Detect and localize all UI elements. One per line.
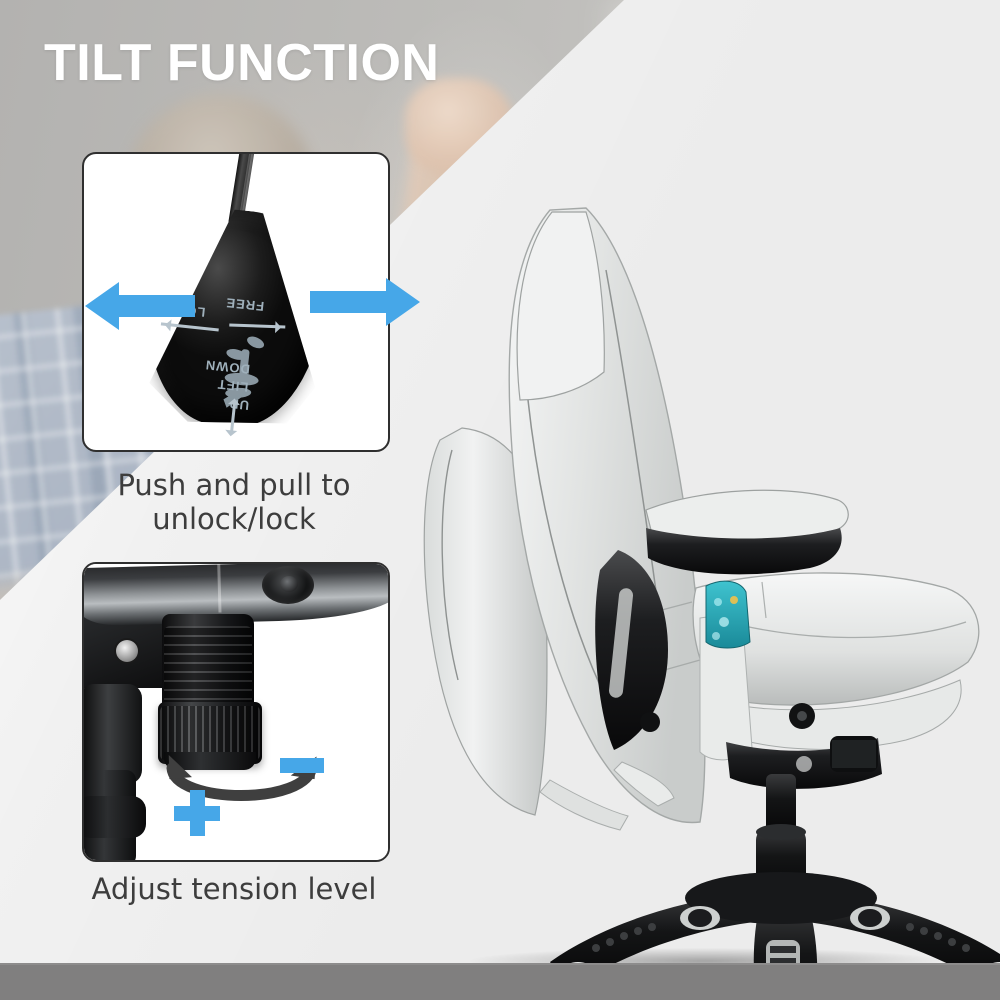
callout-card-tension-knob (82, 562, 390, 862)
plate-seam (217, 564, 221, 612)
minus-sign-icon (280, 758, 324, 773)
page-title: TILT FUNCTION (44, 37, 439, 89)
infographic-canvas: TILT FUNCTION FREE LOCK DOWN LIFT UP (0, 0, 1000, 1000)
arrow-left-icon (85, 278, 195, 334)
tilt-dial-core (280, 576, 298, 592)
bracket-screw (116, 640, 138, 662)
shaft-threads (164, 626, 252, 708)
tension-knob-photo (84, 564, 388, 860)
caption-line-1: Push and pull to (64, 468, 404, 502)
caption-line-1: Adjust tension level (64, 872, 404, 906)
callout-caption-tension-knob: Adjust tension level (64, 872, 404, 906)
callout-caption-tilt-lever: Push and pull to unlock/lock (64, 468, 404, 536)
knob-arrow-right-icon (229, 324, 285, 329)
knob-label-free: FREE (225, 295, 265, 314)
arrow-right-icon (310, 274, 420, 330)
caption-line-2: unlock/lock (64, 502, 404, 536)
plus-sign-icon (174, 790, 220, 836)
left-post-upper (82, 684, 142, 784)
floor-band (0, 965, 1000, 1000)
office-chair-illustration (400, 150, 1000, 990)
left-post-cap (82, 796, 146, 838)
